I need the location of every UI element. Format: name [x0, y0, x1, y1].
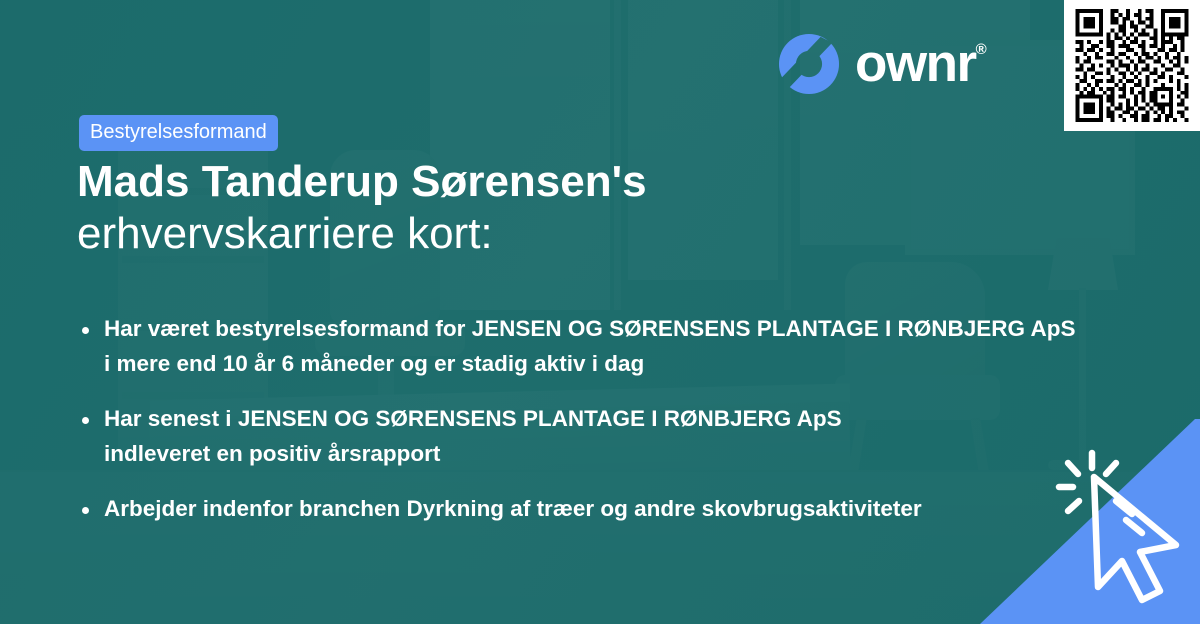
blue-corner-wedge — [980, 419, 1200, 624]
ownr-wordmark: ownr ® — [855, 39, 987, 89]
ownr-circle-swoosh-icon — [778, 33, 840, 95]
ownr-logo[interactable]: ownr ® — [778, 33, 987, 95]
status-badge: Bestyrelsesformand — [79, 115, 278, 151]
page-title: Mads Tanderup Sørensen's erhvervskarrier… — [77, 156, 647, 260]
page-title-line-2: erhvervskarriere kort: — [77, 208, 647, 260]
page-title-line-1: Mads Tanderup Sørensen's — [77, 156, 647, 208]
list-item: Har været bestyrelsesformand for JENSEN … — [78, 312, 1200, 382]
corner-cursor-graphic — [980, 419, 1200, 624]
qr-code-icon — [1073, 9, 1191, 122]
qr-code[interactable] — [1064, 0, 1200, 131]
registered-trademark-icon: ® — [976, 43, 987, 57]
career-card: ownr ® — [0, 0, 1200, 624]
ownr-wordmark-text: ownr — [855, 39, 976, 89]
